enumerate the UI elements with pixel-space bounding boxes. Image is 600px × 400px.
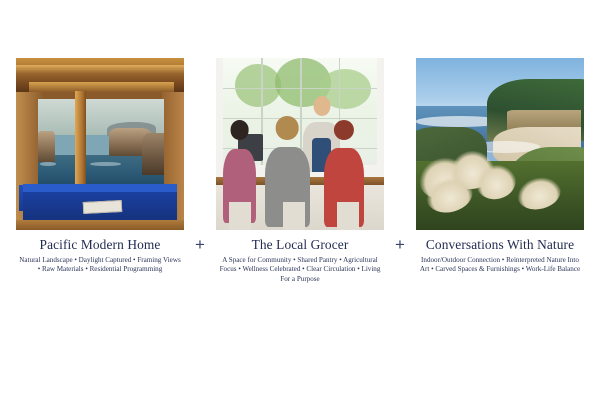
panel-subtitle: Indoor/Outdoor Connection • Reinterprete… — [416, 256, 584, 275]
plus-icon: + — [395, 236, 405, 253]
panel-image-the-local-grocer — [216, 58, 384, 230]
stool-center — [283, 202, 305, 230]
separator-plus-2: + — [386, 58, 414, 230]
customer-right-head — [334, 120, 354, 140]
window-left — [38, 99, 78, 192]
plus-icon: + — [195, 236, 205, 253]
stool-left — [229, 202, 251, 230]
panel-title: Pacific Modern Home — [16, 237, 184, 252]
window-seat-cushion-top — [23, 184, 178, 193]
panel-subtitle: A Space for Community • Shared Pantry • … — [216, 256, 384, 284]
ceiling-beam-upper — [16, 65, 184, 74]
panel-title: The Local Grocer — [216, 237, 384, 252]
concept-panel-the-local-grocer[interactable]: The Local Grocer A Space for Community •… — [214, 58, 386, 284]
panel-subtitle: Natural Landscape • Daylight Captured • … — [16, 256, 184, 275]
open-book — [83, 200, 122, 214]
concept-panel-conversations-with-nature[interactable]: Conversations With Nature Indoor/Outdoor… — [414, 58, 586, 275]
concept-panel-row: Pacific Modern Home Natural Landscape • … — [0, 58, 600, 284]
panel-title: Conversations With Nature — [416, 237, 584, 252]
corner-post — [75, 91, 86, 198]
sky — [38, 99, 78, 134]
concept-board: Pacific Modern Home Natural Landscape • … — [0, 0, 600, 400]
panel-caption-the-local-grocer: The Local Grocer A Space for Community •… — [216, 237, 384, 284]
window-mullion-horizontal-1 — [223, 88, 378, 90]
cliff-near — [38, 131, 55, 163]
concept-panel-pacific-modern-home[interactable]: Pacific Modern Home Natural Landscape • … — [14, 58, 186, 275]
panel-caption-pacific-modern-home: Pacific Modern Home Natural Landscape • … — [16, 237, 184, 275]
cliff-far-right — [142, 133, 164, 176]
customer-center-head — [276, 116, 299, 139]
barista-head — [313, 96, 330, 116]
panel-image-conversations-with-nature — [416, 58, 584, 230]
separator-plus-1: + — [186, 58, 214, 230]
window-right — [85, 99, 164, 192]
stool-right — [337, 202, 359, 230]
panel-caption-conversations-with-nature: Conversations With Nature Indoor/Outdoor… — [416, 237, 584, 275]
panel-image-pacific-modern-home — [16, 58, 184, 230]
ceiling-beam-lower — [29, 82, 173, 92]
customer-left-head — [230, 120, 249, 140]
wood-floor — [16, 220, 184, 230]
